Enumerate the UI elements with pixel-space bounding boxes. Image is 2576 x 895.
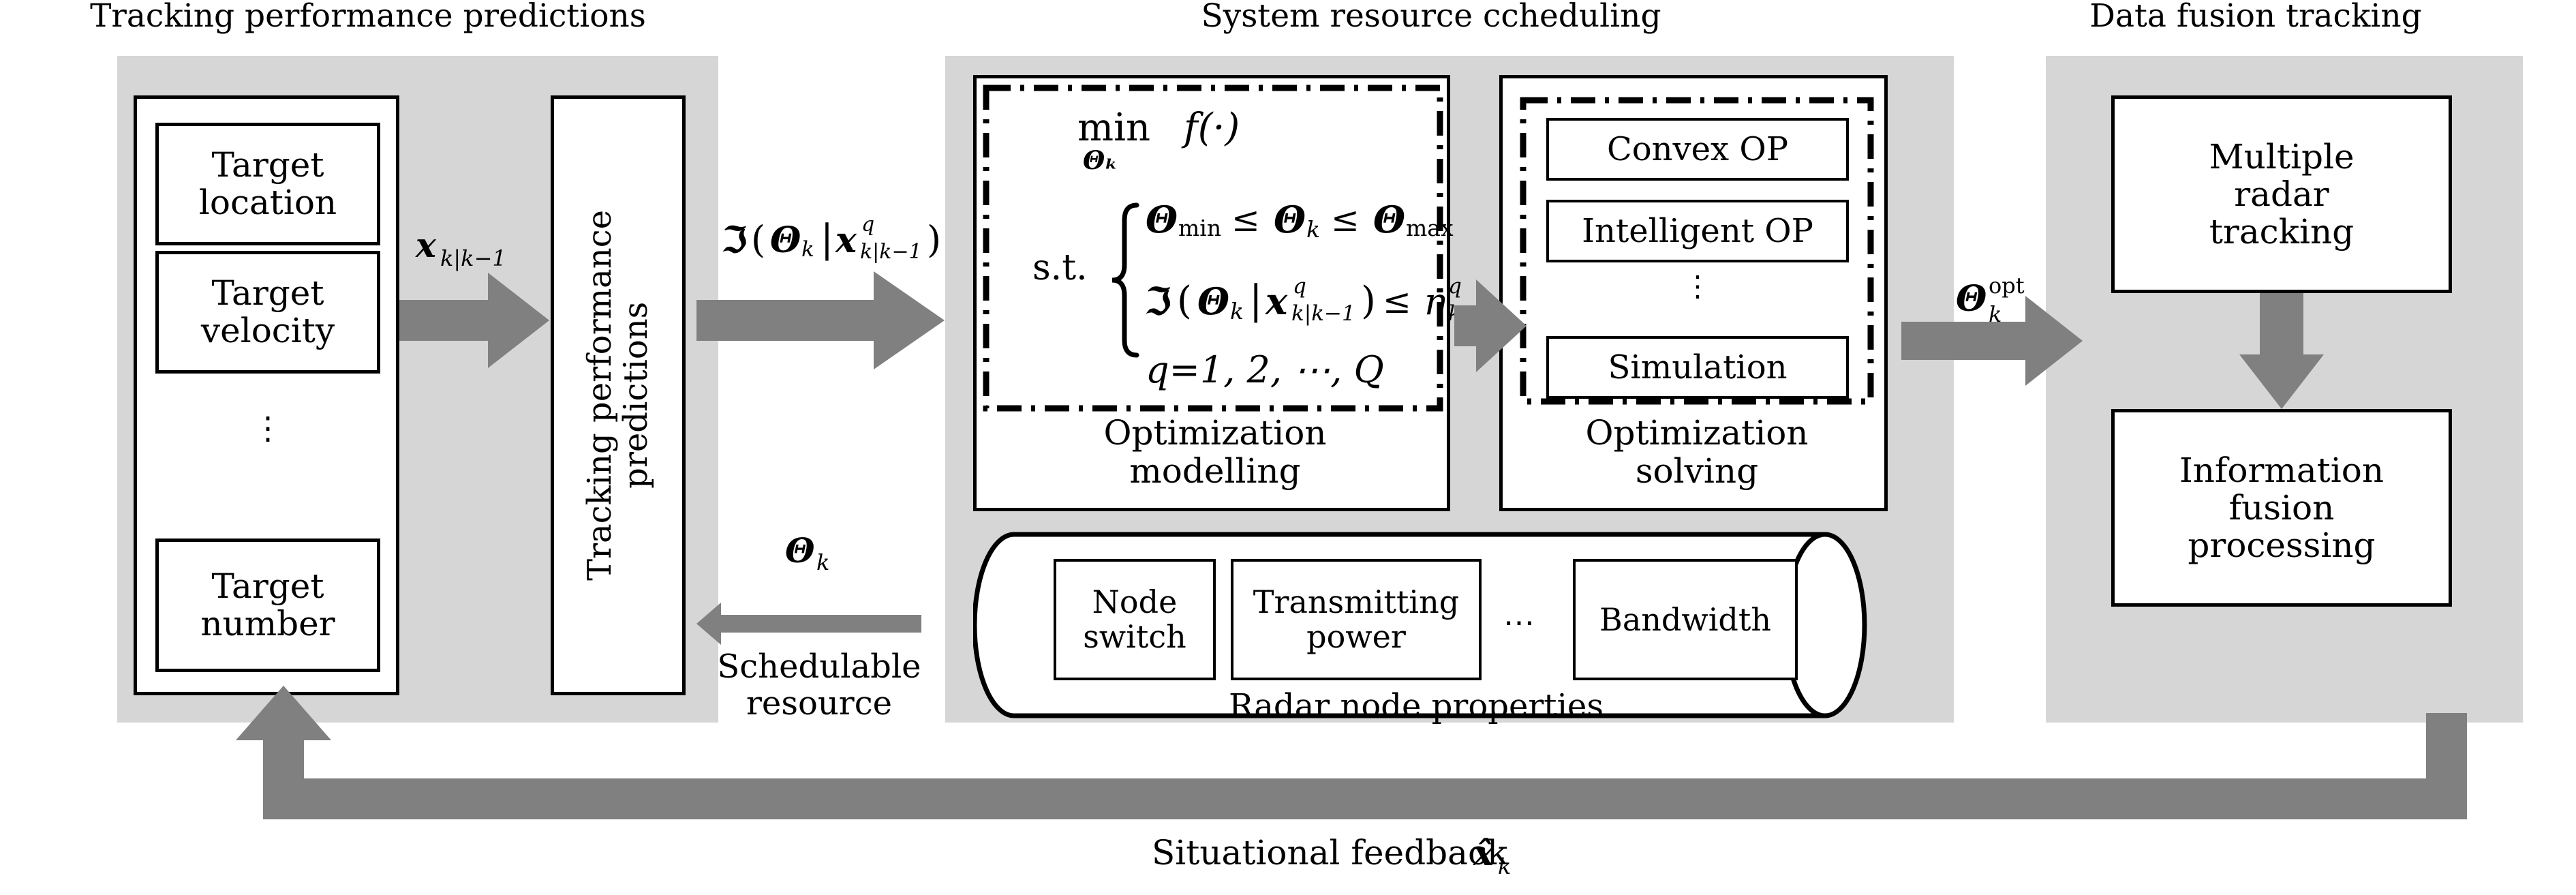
schedulable-line1: Schedulable (717, 648, 921, 686)
label-schedulable-resource: Schedulable resource (696, 649, 942, 723)
arrow-fisher-information (696, 271, 945, 369)
arrow-layer (0, 0, 2576, 895)
arrow-tracking-to-fusion (2239, 293, 2324, 409)
schedulable-line2: resource (746, 684, 892, 723)
arrow-schedulable-resource (696, 603, 921, 645)
arrow-modelling-to-solving (1454, 279, 1527, 372)
arrow-state-prediction (399, 273, 549, 368)
arrow-situational-feedback-shape (236, 686, 2467, 819)
